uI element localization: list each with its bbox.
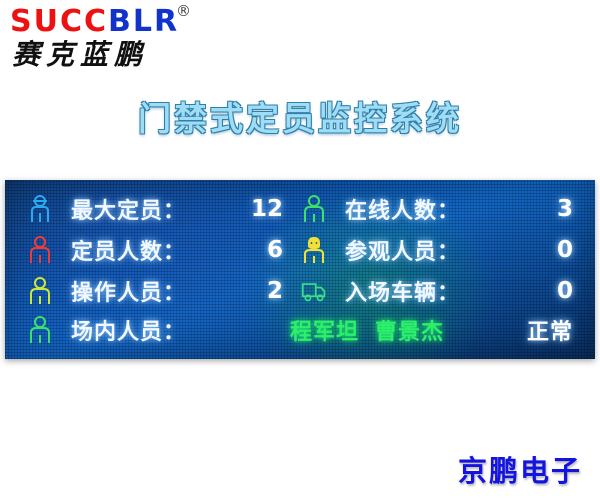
person-icon (27, 276, 53, 306)
person-cap-icon (27, 194, 53, 224)
led-value-registered-count: 6 (186, 237, 283, 263)
led-row-vehicles: 入场车辆： 0 (301, 272, 573, 310)
person-icon (27, 315, 53, 345)
person-icon (27, 235, 53, 265)
led-label-vehicles: 入场车辆： (345, 275, 460, 307)
led-row-max-capacity: 最大定员： 12 (27, 190, 283, 228)
led-row-registered-count: 定员人数： 6 (27, 231, 283, 269)
occupant-name: 曹景杰 (375, 314, 444, 346)
led-value-operators: 2 (186, 278, 283, 304)
person-visitor-icon (301, 235, 327, 265)
truck-icon (301, 276, 327, 306)
brand-latin-red: SUCC (10, 4, 108, 39)
brand-logo: SUCCBLR ® 赛克蓝鹏 (8, 6, 238, 76)
led-label-occupants: 场内人员： (71, 314, 186, 346)
led-row-online-count: 在线人数： 3 (301, 190, 573, 228)
brand-chinese-text: 赛克蓝鹏 (12, 39, 148, 71)
led-value-vehicles: 0 (460, 278, 573, 304)
led-value-max-capacity: 12 (186, 196, 283, 222)
led-label-max-capacity: 最大定员： (71, 193, 186, 225)
led-row-occupants: 场内人员： 程军坦 曹景杰 正常 (27, 311, 573, 349)
led-value-online-count: 3 (460, 196, 573, 222)
footer-brand: 京鹏电子 (458, 448, 582, 490)
registered-trademark-icon: ® (176, 4, 191, 19)
brand-latin-blue: BLR (108, 4, 179, 39)
page-title: 门禁式定员监控系统 (0, 92, 600, 140)
led-label-online-count: 在线人数： (345, 193, 460, 225)
brand-latin-text: SUCCBLR (10, 6, 179, 38)
led-display-panel: 最大定员： 12 定员人数： 6 操作人员： (5, 180, 595, 359)
led-row-visitors: 参观人员： 0 (301, 231, 573, 269)
status-badge: 正常 (527, 314, 573, 346)
led-label-visitors: 参观人员： (345, 234, 460, 266)
occupant-name: 程军坦 (290, 314, 359, 346)
led-value-visitors: 0 (460, 237, 573, 263)
occupant-name-list: 程军坦 曹景杰 (204, 314, 527, 346)
led-label-operators: 操作人员： (71, 275, 186, 307)
led-row-operators: 操作人员： 2 (27, 272, 283, 310)
led-label-registered-count: 定员人数： (71, 234, 186, 266)
person-icon (301, 194, 327, 224)
